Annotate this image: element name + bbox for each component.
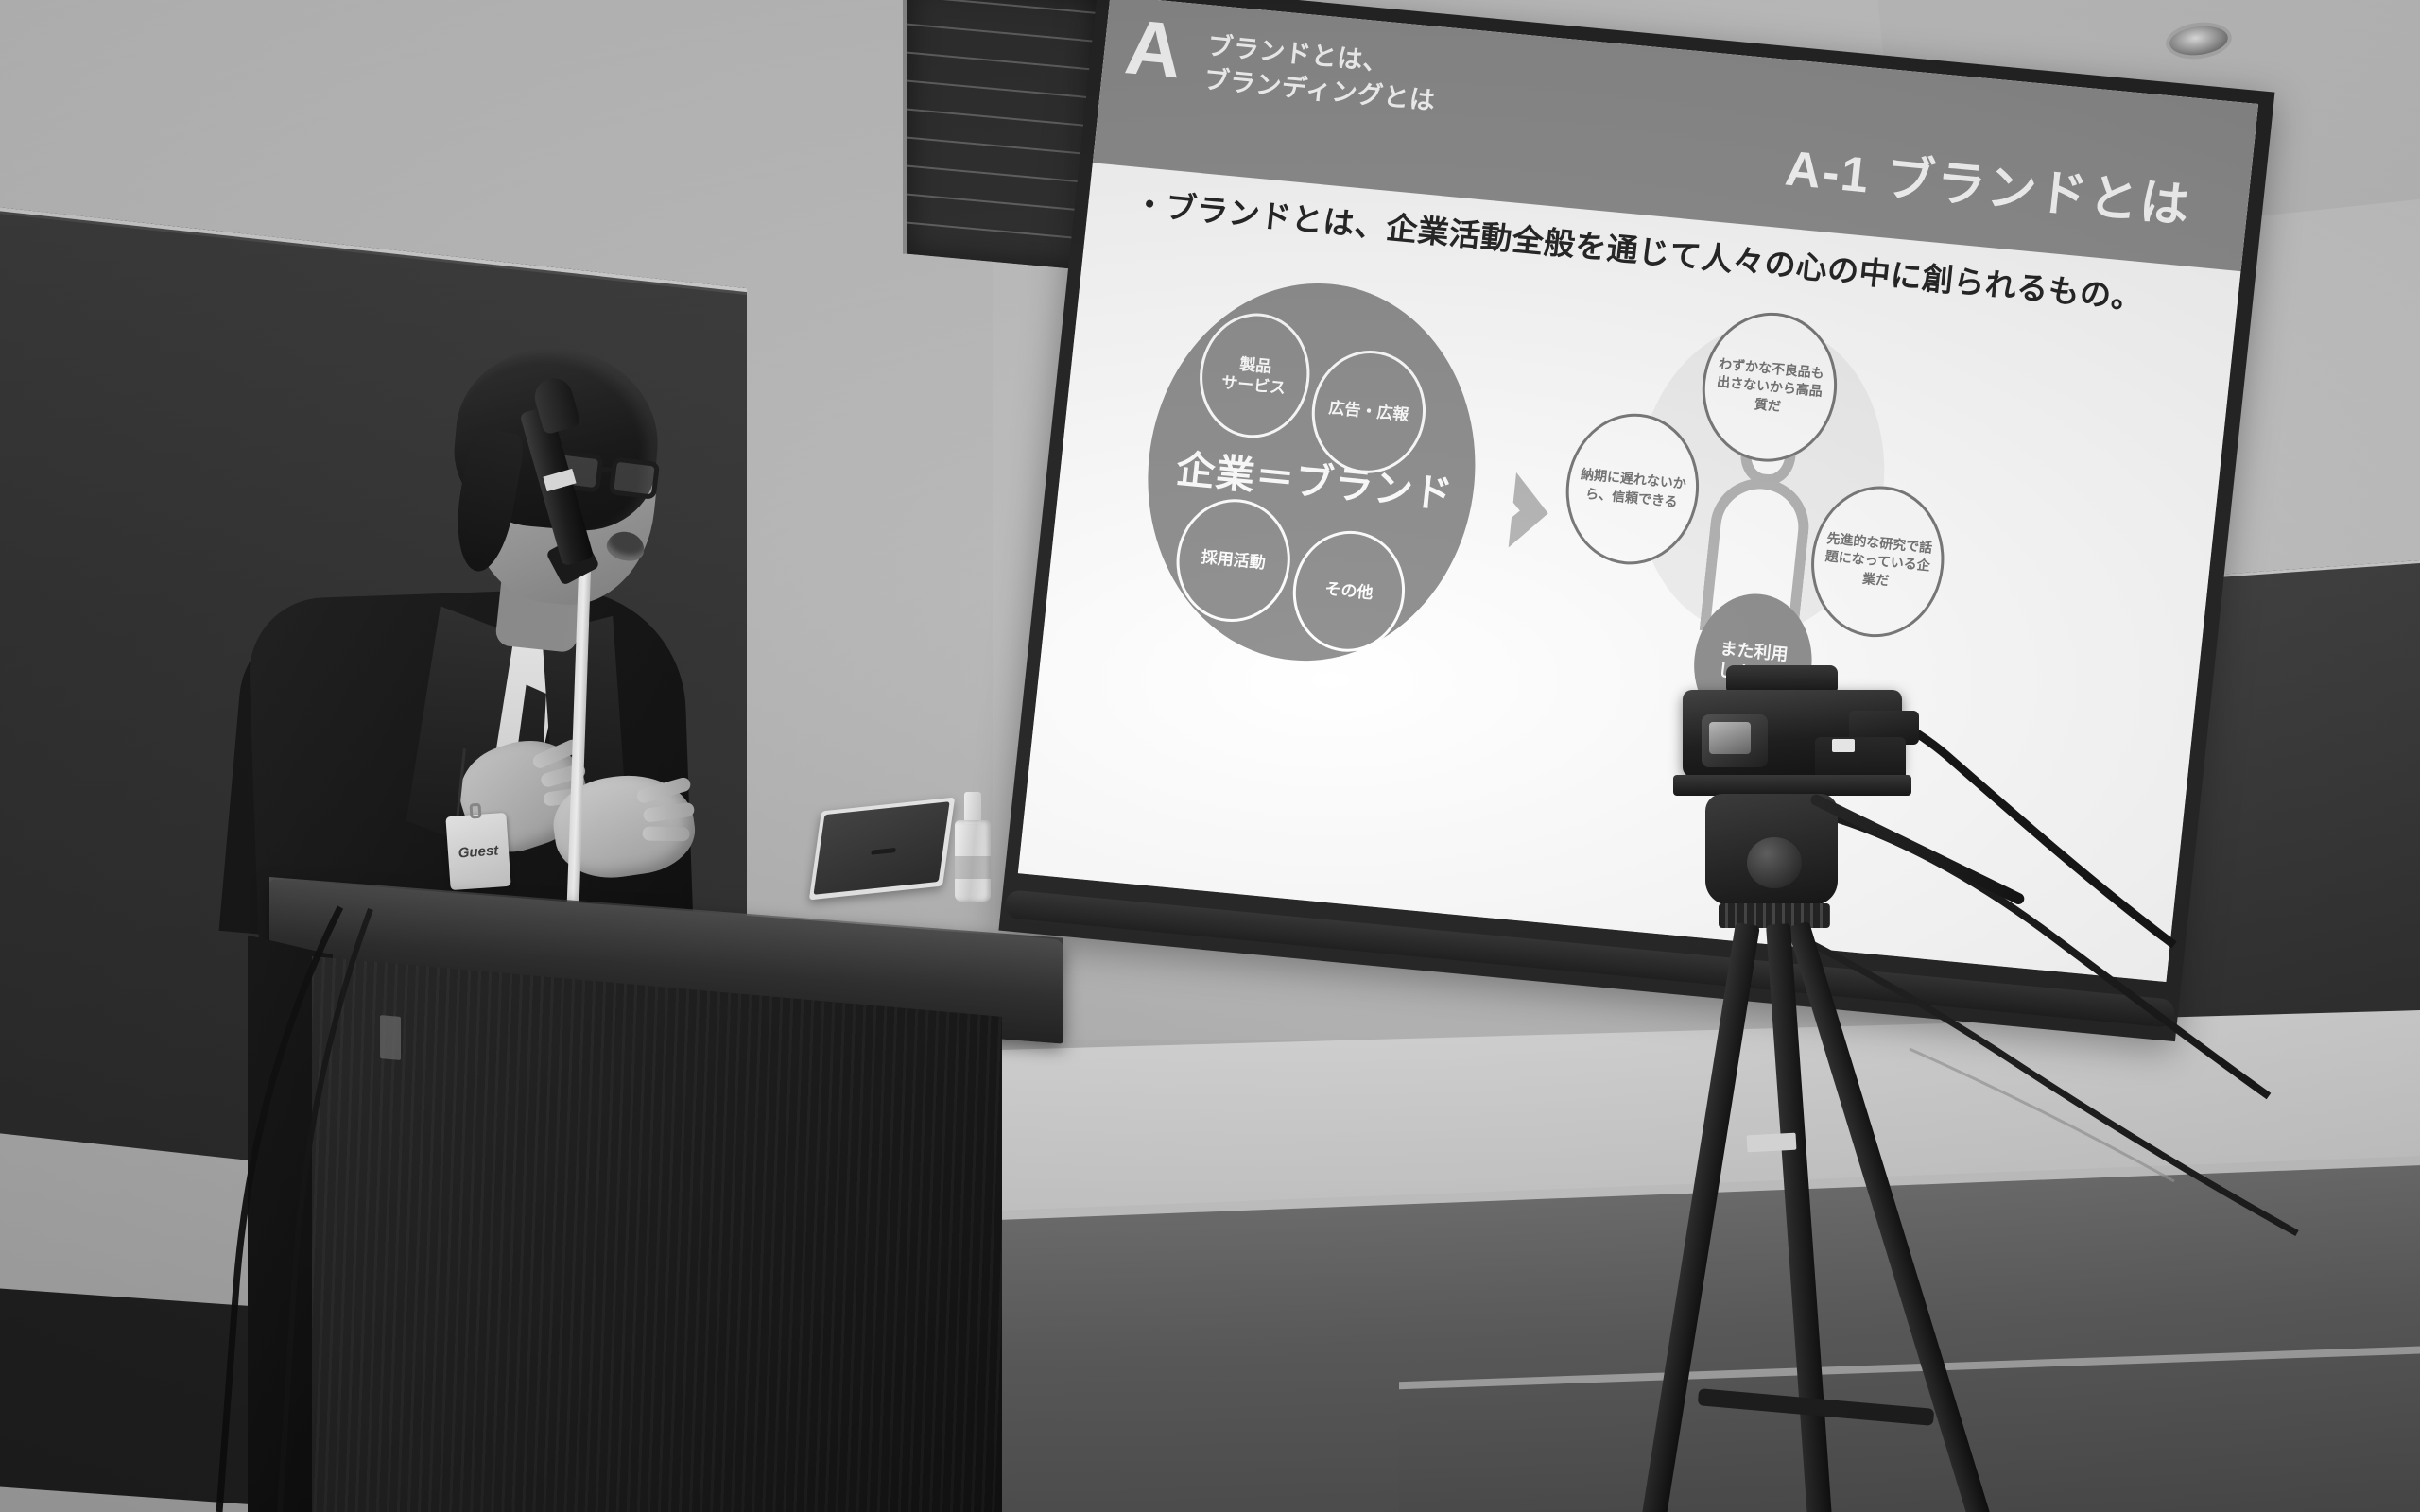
slide-title: A-1 ブランドとは	[1783, 129, 2195, 237]
camera-label-tag	[1832, 739, 1855, 752]
bubble-line-1: 採用活動	[1201, 547, 1267, 574]
section-subtitle: ブランドとは、 ブランディングとは	[1202, 29, 1441, 118]
section-letter: A	[1122, 10, 1185, 89]
quick-release-plate	[1673, 775, 1911, 796]
laptop-latch	[871, 848, 896, 855]
tripod-tilt-knob[interactable]	[1747, 837, 1802, 888]
bubble-line-1: その他	[1323, 579, 1374, 604]
chevron-right-icon	[1509, 472, 1552, 551]
water-bottle	[955, 792, 991, 902]
presentation-slide: A ブランドとは、 ブランディングとは A-1 ブランドとは ・ブランドとは、企…	[1018, 0, 2258, 982]
tripod-fluid-head	[1705, 794, 1838, 905]
bubble-line-2: サービス	[1220, 372, 1287, 399]
glasses-lens-right	[609, 456, 661, 500]
name-badge: Guest	[445, 813, 510, 890]
podium-body	[312, 956, 1002, 1512]
tripod-label-tag	[1747, 1133, 1797, 1153]
bubble-line-1: 広告・広報	[1327, 398, 1409, 425]
laptop	[809, 798, 955, 901]
laptop-lid	[813, 801, 949, 895]
presentation-photo-scene: A ブランドとは、 ブランディングとは A-1 ブランドとは ・ブランドとは、企…	[0, 0, 2420, 1512]
camera-tripod-rig	[1645, 680, 2061, 1512]
bottle-neck	[964, 792, 981, 824]
badge-label: Guest	[458, 842, 499, 861]
camera-lens-glass	[1709, 722, 1751, 754]
camera-top-handle	[1726, 665, 1838, 692]
podium-switch-plate	[380, 1015, 401, 1060]
screen-surface: A ブランドとは、 ブランディングとは A-1 ブランドとは ・ブランドとは、企…	[1018, 0, 2258, 982]
tripod-leg-1	[1630, 922, 1760, 1512]
camera-lens-icon	[1702, 714, 1768, 767]
projection-screen: A ブランドとは、 ブランディングとは A-1 ブランドとは ・ブランドとは、企…	[998, 0, 2274, 1041]
tripod-pan-handle[interactable]	[1808, 793, 2026, 906]
badge-clip	[469, 803, 481, 819]
bottle-label	[955, 856, 991, 879]
